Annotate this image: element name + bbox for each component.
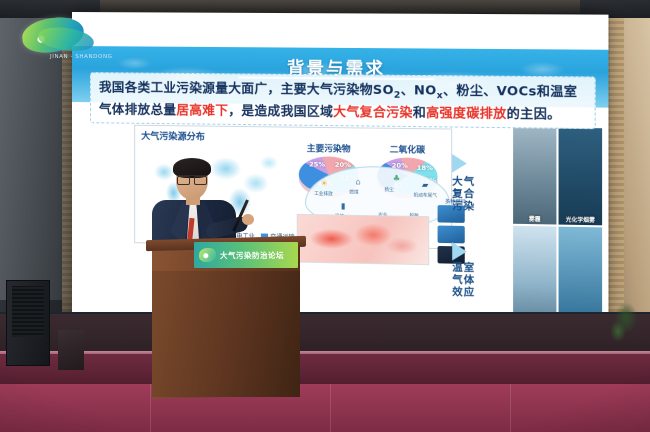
podium-banner: 大气污染防治论坛 bbox=[194, 242, 298, 268]
ceiling-beam bbox=[100, 0, 580, 13]
figure-label: 大气污染源分布 bbox=[141, 129, 205, 143]
arrow-right-lower-icon bbox=[452, 242, 467, 261]
photo-flood bbox=[559, 227, 603, 325]
sun-icon: ☀ bbox=[320, 179, 327, 188]
pollution-heatmap bbox=[297, 214, 429, 265]
podium: 大气污染防治论坛 bbox=[152, 238, 300, 402]
statement-text-d: 、粉尘、VOCs和温室 bbox=[443, 82, 577, 99]
event-logo-caption: JINAN · SHANDONG bbox=[50, 54, 113, 60]
effect-photo-grid: 雾霾 光化学烟雾 bbox=[513, 127, 602, 324]
event-logo: JINAN · SHANDONG bbox=[18, 16, 110, 66]
statement-highlight-1: 居高难下 bbox=[176, 102, 228, 118]
statement-highlight-2: 大气复合污染 bbox=[333, 103, 413, 119]
photo-photochemical-smog: 光化学烟雾 bbox=[559, 128, 603, 226]
potted-plant bbox=[608, 300, 644, 360]
statement-text-b: ，主要大气污染物SO bbox=[267, 81, 393, 97]
factory-icon: ⌂ bbox=[355, 177, 360, 186]
glasses-icon bbox=[177, 175, 207, 182]
loudspeaker bbox=[6, 280, 50, 366]
label-greenhouse-effect: 温室气体效应 bbox=[450, 263, 477, 300]
label-compound-pollution: 大气复合污染 bbox=[450, 177, 477, 214]
statement-highlight-3: 高强度碳排放 bbox=[426, 104, 506, 120]
arrow-right-upper-icon bbox=[452, 154, 467, 173]
chair bbox=[58, 330, 84, 370]
photo-smog: 雾霾 bbox=[513, 127, 556, 224]
photo-glacier bbox=[513, 226, 556, 324]
pie-title-2: 二氧化碳 bbox=[370, 143, 445, 156]
cloud-node-0: 工业排放 bbox=[314, 191, 333, 197]
photo-caption-0: 雾霾 bbox=[513, 215, 556, 224]
cloud-node-1: 燃煤 bbox=[349, 189, 358, 195]
power-plant-icon: ▮ bbox=[341, 201, 346, 210]
statement-text-h: 的主因。 bbox=[507, 105, 561, 121]
photo-row-upper: 雾霾 光化学烟雾 bbox=[513, 127, 602, 225]
photo-caption-1: 光化学烟雾 bbox=[559, 215, 603, 224]
podium-banner-text: 大气污染防治论坛 bbox=[220, 250, 284, 261]
cloud-node-3: 机动车尾气 bbox=[414, 192, 437, 199]
slide-statement-box: 我国各类工业污染源量大面广，主要大气污染物SO2、NOx、粉尘、VOCs和温室 … bbox=[90, 72, 596, 129]
statement-text-e: 气体排放总量 bbox=[99, 101, 176, 117]
effect-arrow-column: 大气复合污染 温室气体效应 bbox=[450, 132, 488, 317]
photo-row-lower bbox=[513, 226, 602, 325]
statement-text-g: 和 bbox=[413, 104, 426, 119]
statement-text-a: 我国各类工业污染源量大面广 bbox=[99, 79, 267, 96]
statement-text-f: ，是造成我国区域 bbox=[228, 102, 333, 118]
statement-text-c: 、NO bbox=[401, 82, 437, 98]
tree-icon: ♣ bbox=[393, 174, 400, 183]
conference-photo-scene: 背景与需求 我国各类工业污染源量大面广，主要大气污染物SO2、NOx、粉尘、VO… bbox=[0, 0, 650, 432]
vehicle-icon: ▰ bbox=[422, 180, 428, 189]
so2-subscript: 2 bbox=[394, 91, 401, 101]
pie-title-1: 主要污染物 bbox=[292, 142, 366, 155]
emission-source-diagram: ☀ 工业排放 ⌂ 燃煤 ♣ 扬尘 ▰ 机动车尾气 ▮ 建筑 农业 船舶 多种燃料 bbox=[305, 165, 471, 266]
podium-logo-icon bbox=[199, 248, 216, 262]
cloud-node-2: 扬尘 bbox=[384, 187, 393, 193]
stage-front-face bbox=[0, 354, 650, 384]
podium-front-face bbox=[152, 271, 300, 397]
speaker-hand bbox=[242, 214, 254, 225]
loudspeaker-grille bbox=[12, 286, 44, 337]
